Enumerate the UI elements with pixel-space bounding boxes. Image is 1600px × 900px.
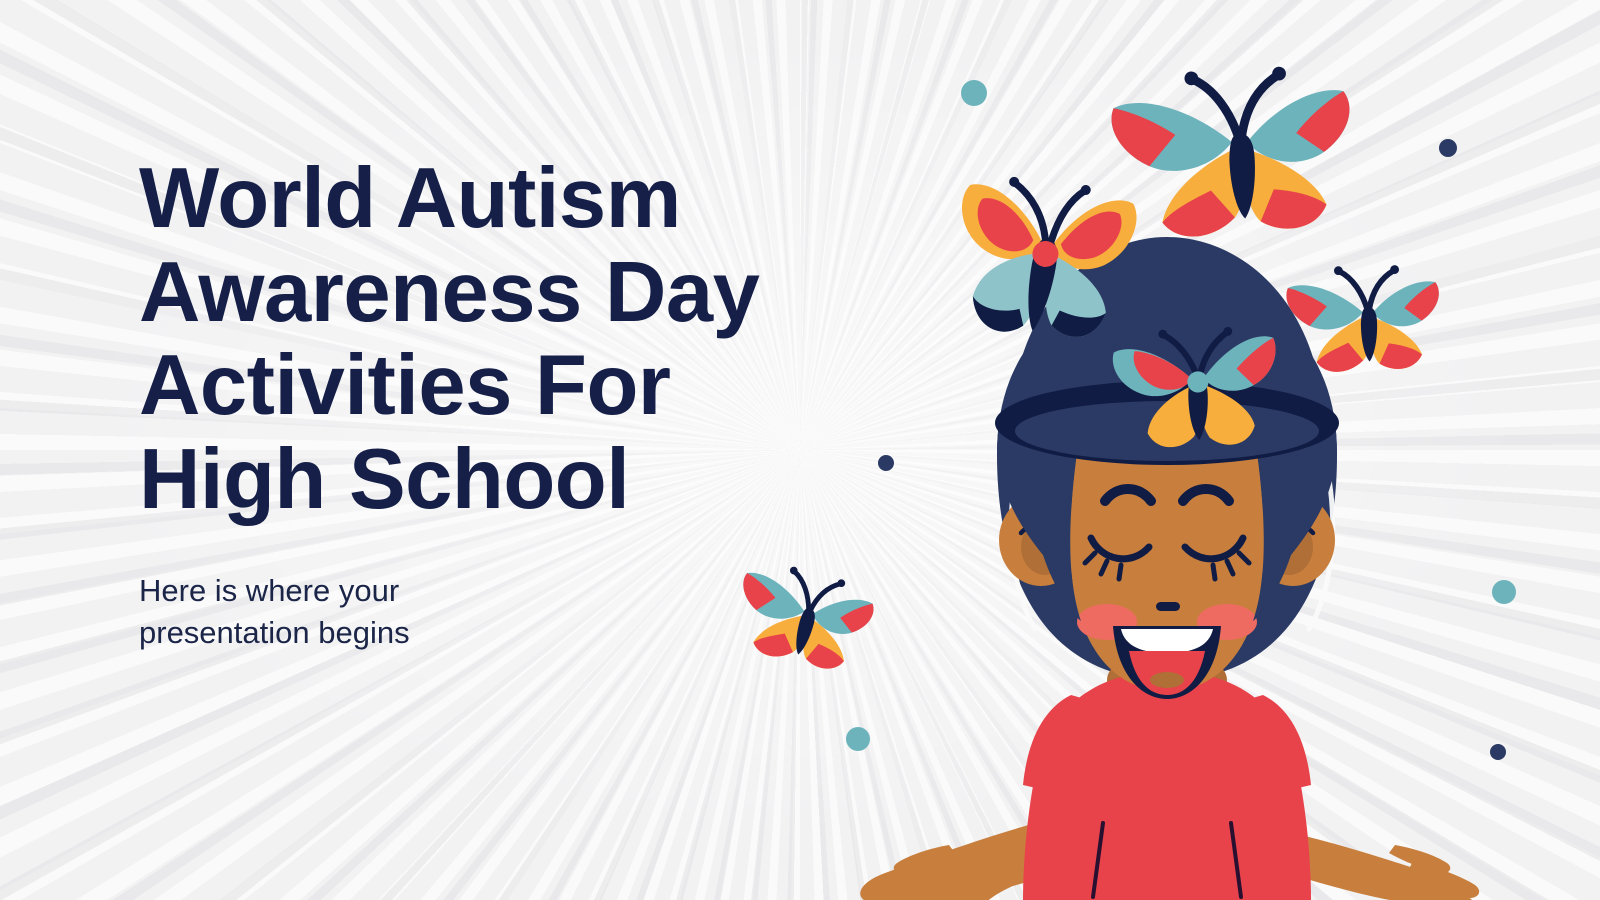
right-lashes-3 <box>1213 565 1215 579</box>
chin-shadow <box>1150 672 1184 688</box>
page-title: World Autism Awareness Day Activities Fo… <box>139 152 839 526</box>
left-lashes-3 <box>1119 565 1121 579</box>
title-slide: World Autism Awareness Day Activities Fo… <box>0 0 1600 900</box>
hero-illustration <box>735 55 1595 900</box>
title-text-block: World Autism Awareness Day Activities Fo… <box>139 152 839 654</box>
nose <box>1156 602 1180 611</box>
page-subtitle: Here is where your presentation begins <box>139 526 839 654</box>
butterfly-top-right <box>1106 55 1365 251</box>
